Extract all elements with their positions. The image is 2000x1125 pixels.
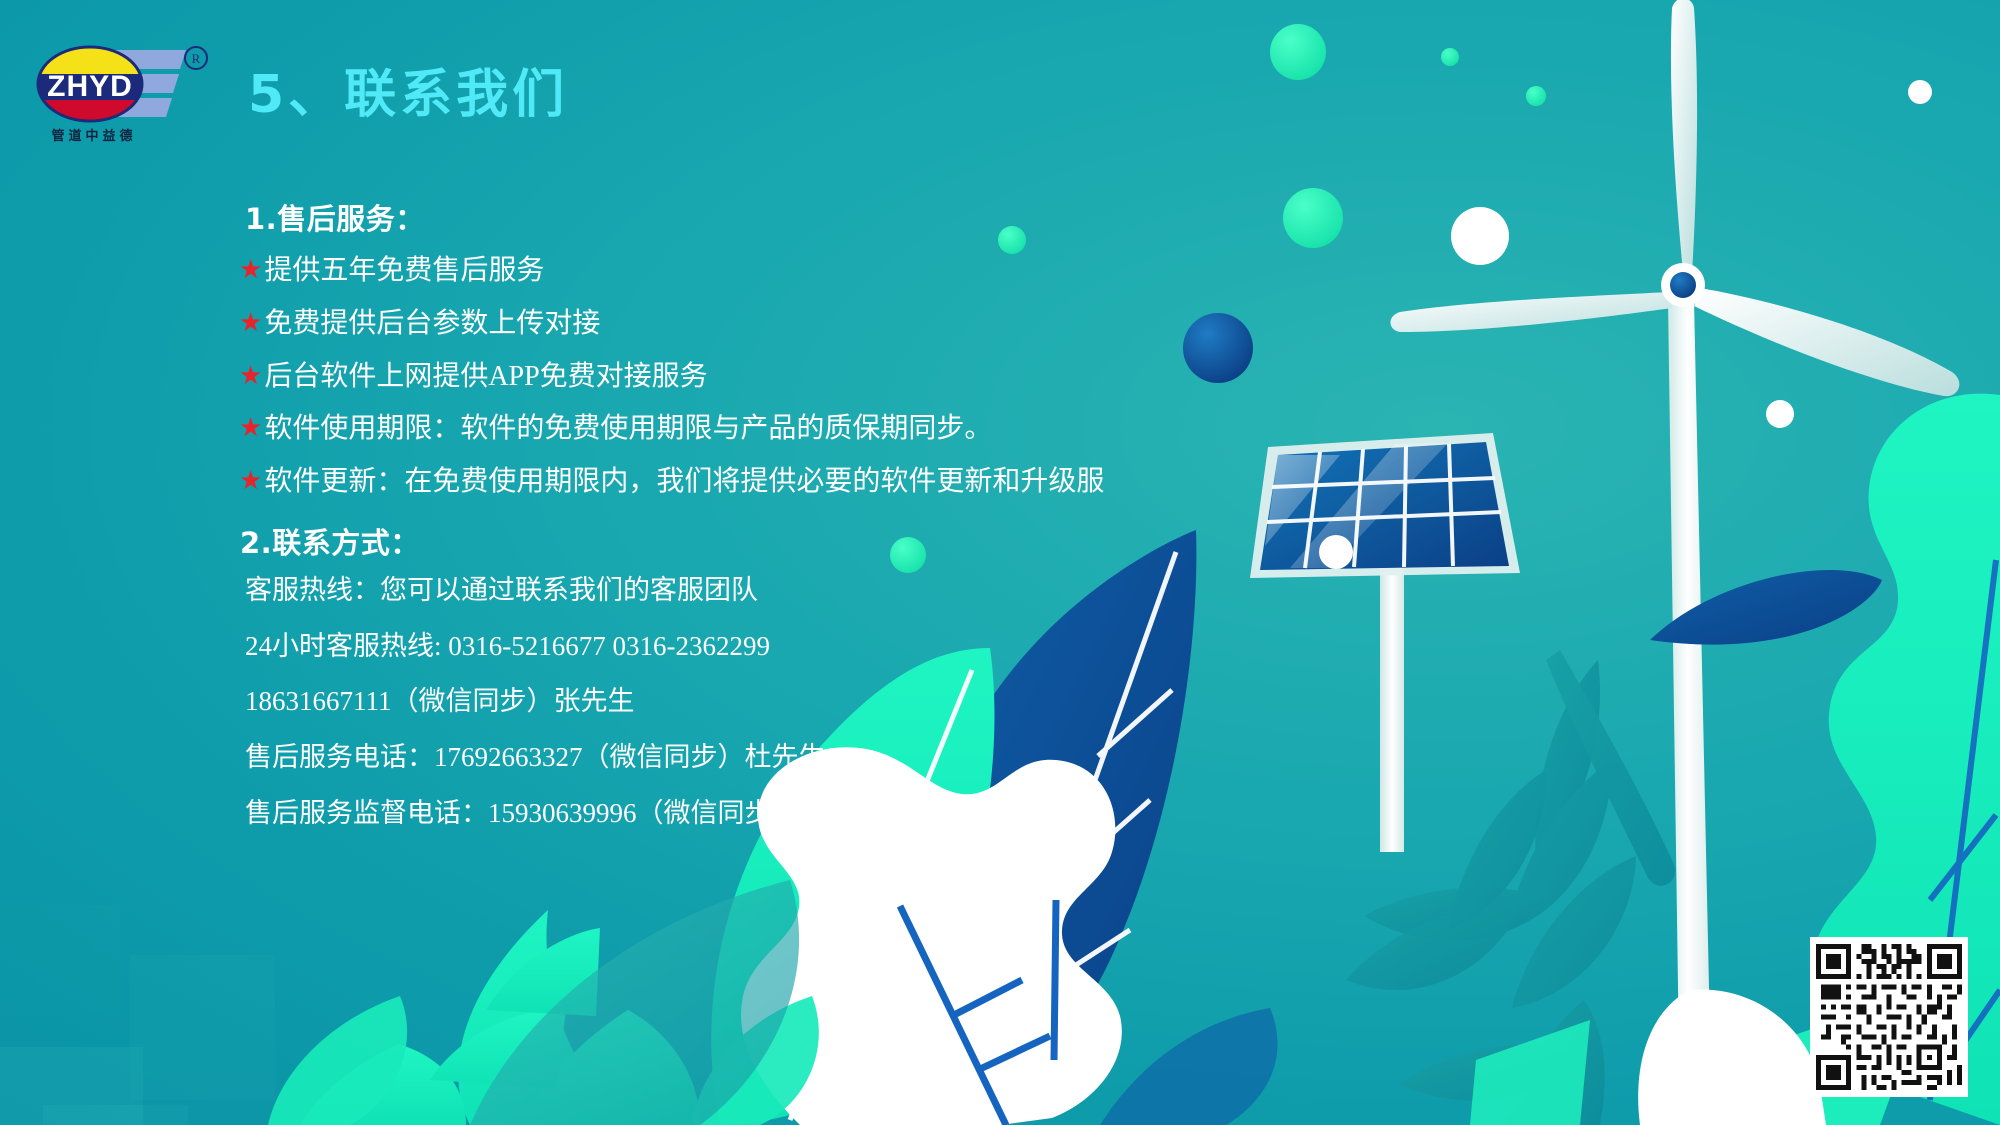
qr-code[interactable] <box>1810 937 1968 1097</box>
bullet-item: ★ 软件使用期限：软件的免费使用期限与产品的质保期同步。 <box>239 414 1325 445</box>
section-1-heading: 1.售后服务： <box>245 196 1325 238</box>
decorative-squares <box>0 905 280 1125</box>
contact-line: 24小时客服热线: 0316-5216677 0316-2362299 <box>245 632 1325 662</box>
star-icon: ★ <box>239 362 262 392</box>
bullet-item: ★ 软件更新：在免费使用期限内，我们将提供必要的软件更新和升级服 <box>239 467 1325 498</box>
star-icon: ★ <box>239 414 262 444</box>
bullet-item: ★ 免费提供后台参数上传对接 <box>239 309 1325 340</box>
teal-band-bottom <box>1100 1008 1277 1125</box>
slide-root: ZHYD R 管道中益德 5、联系我们 1.售后服务： ★ 提供五年免费售后服务… <box>0 0 2000 1125</box>
svg-text:R: R <box>192 51 201 66</box>
bullet-item: ★ 提供五年免费售后服务 <box>239 256 1325 287</box>
logo-subtitle: 管道中益德 <box>51 128 136 144</box>
bullet-item: ★ 后台软件上网提供APP免费对接服务 <box>239 362 1325 393</box>
bullet-text: 后台软件上网提供APP免费对接服务 <box>264 362 707 393</box>
contact-line: 客服热线：您可以通过联系我们的客服团队 <box>245 576 1325 606</box>
contact-line: 售后服务监督电话：15930639996（微信同步）张先生 <box>245 799 1325 829</box>
bullet-text: 软件使用期限：软件的免费使用期限与产品的质保期同步。 <box>264 414 992 445</box>
section-2-heading: 2.联系方式： <box>240 520 1325 562</box>
page-title: 5、联系我们 <box>248 52 568 127</box>
star-icon: ★ <box>239 467 262 497</box>
white-blob-right <box>1638 989 1826 1125</box>
bullet-text: 免费提供后台参数上传对接 <box>264 309 600 340</box>
bullet-text: 软件更新：在免费使用期限内，我们将提供必要的软件更新和升级服 <box>264 467 1104 498</box>
star-icon: ★ <box>239 256 262 286</box>
contact-line: 18631667111（微信同步）张先生 <box>245 687 1325 717</box>
content-body: 1.售后服务： ★ 提供五年免费售后服务 ★ 免费提供后台参数上传对接 ★ 后台… <box>245 196 1325 854</box>
star-icon: ★ <box>239 309 262 339</box>
company-logo: ZHYD R 管道中益德 <box>34 36 214 146</box>
bullet-text: 提供五年免费售后服务 <box>264 256 544 287</box>
registered-mark-icon: R <box>185 47 207 69</box>
contact-line: 售后服务电话：17692663327（微信同步）杜先生 <box>245 743 1325 773</box>
logo-wordmark: ZHYD <box>47 70 133 103</box>
bamboo-sprig-left <box>1346 770 1546 990</box>
